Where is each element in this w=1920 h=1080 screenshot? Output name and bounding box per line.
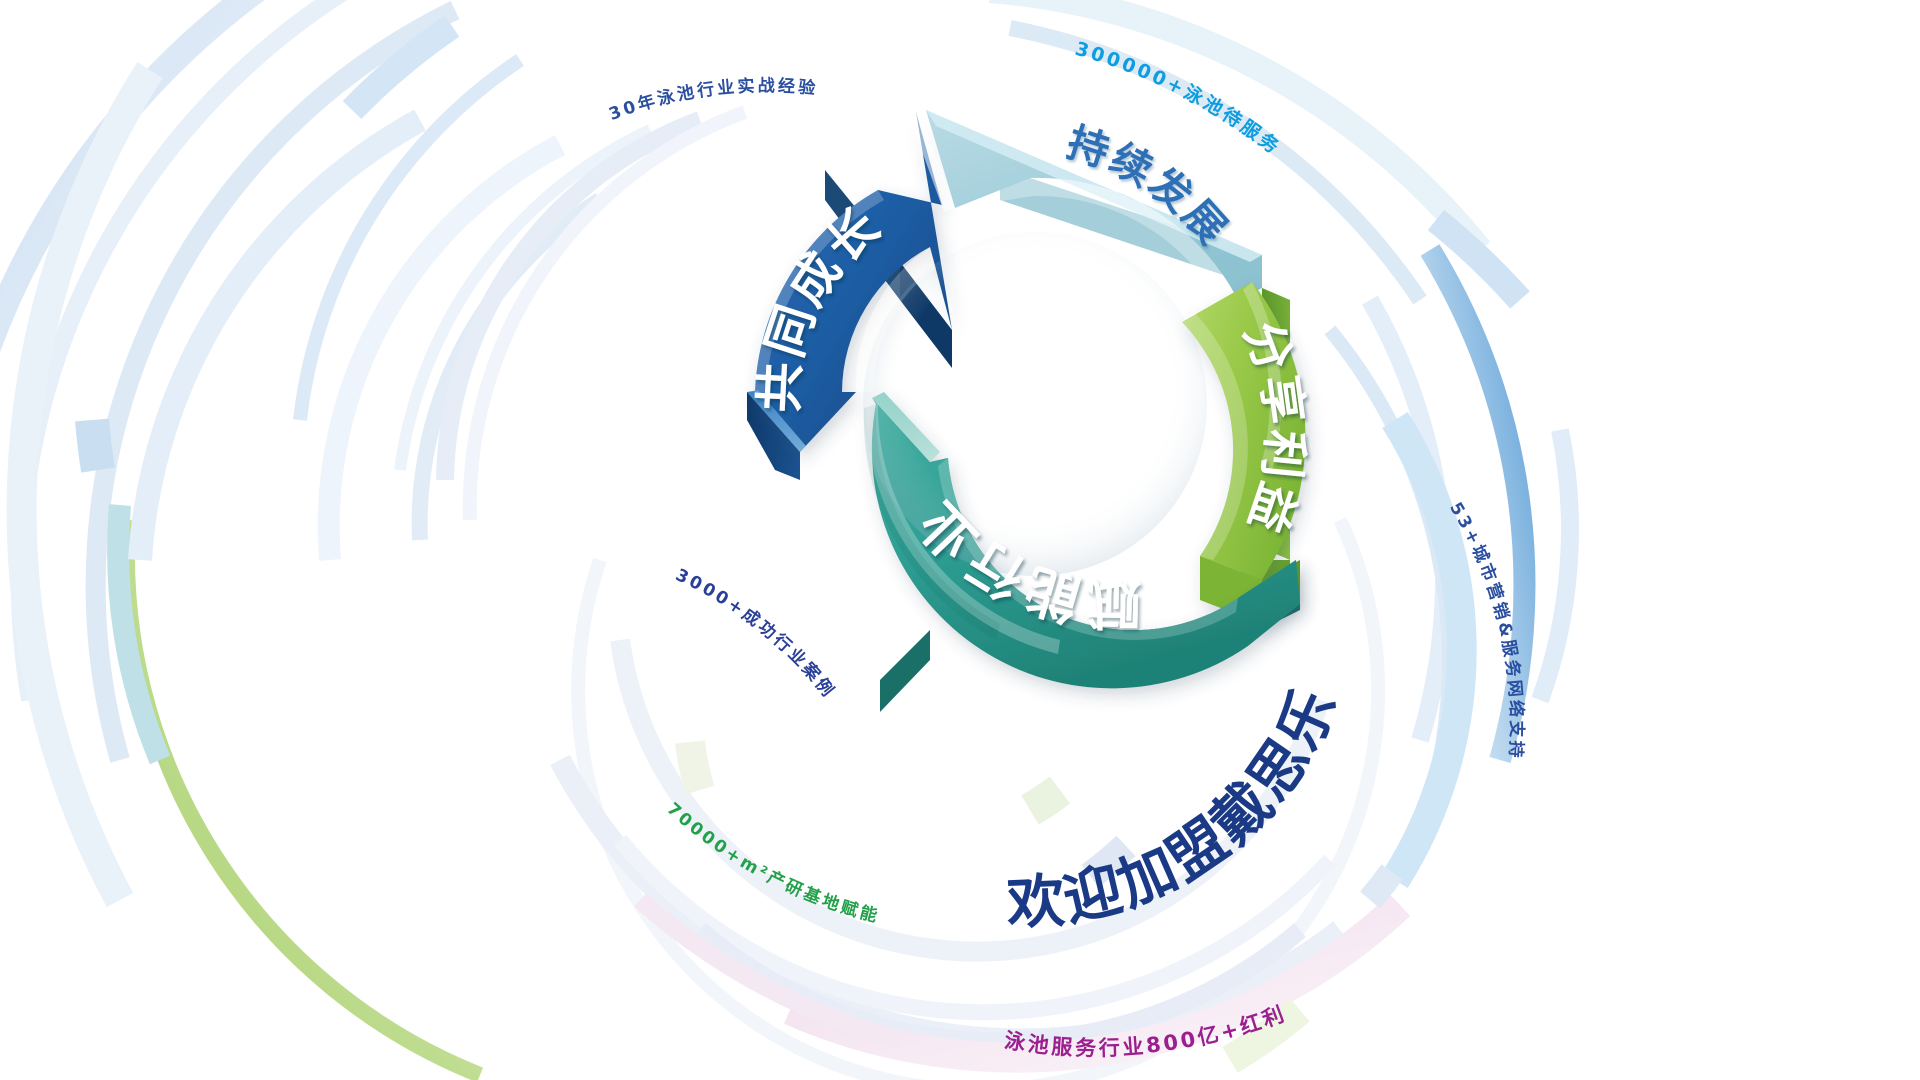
annotation-experience: 30年泳池行业实战经验 <box>606 75 819 125</box>
annotation-base: 70000+m²产研基地赋能 <box>663 799 883 927</box>
annotation-dividend: 泳池服务行业800亿+红利 <box>1003 1001 1290 1060</box>
annotation-pools: 300000+泳池待服务 <box>1073 38 1286 160</box>
annotation-cases: 3000+成功行业案例 <box>672 565 839 703</box>
annotation-cities: 53+城市营销&服务网络支持 <box>1445 499 1527 761</box>
annotation-labels: 30年泳池行业实战经验 300000+泳池待服务 53+城市营销&服务网络支持 … <box>0 0 1920 1080</box>
infographic-canvas: 共同成长 持续发展 分享利益 赋能行业 30年泳池行业实战经验 300000+泳… <box>0 0 1920 1080</box>
annotation-welcome: 欢迎加盟戴思乐 <box>1004 676 1350 937</box>
